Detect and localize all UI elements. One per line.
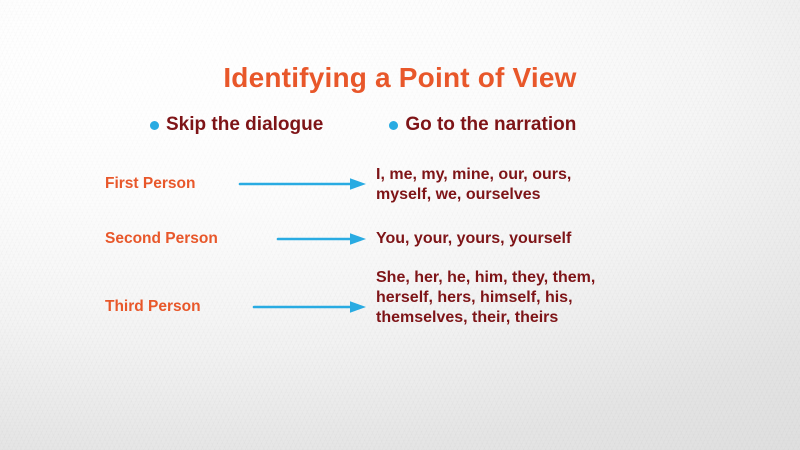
bullet-item-label: Go to the narration bbox=[405, 114, 576, 136]
bullet-dot-icon bbox=[389, 121, 398, 130]
row-words-line: myself, we, ourselves bbox=[376, 185, 706, 205]
bullet-item-label: Skip the dialogue bbox=[166, 114, 323, 136]
row-label-third-person: Third Person bbox=[105, 298, 245, 316]
row-words-line: She, her, he, him, they, them, bbox=[376, 268, 706, 288]
arrow-right-icon bbox=[278, 232, 370, 246]
row-words-third-person: She, her, he, him, they, them, herself, … bbox=[376, 268, 706, 328]
arrow-right-icon bbox=[254, 300, 370, 314]
bullet-dot-icon bbox=[150, 121, 159, 130]
slide-canvas: Identifying a Point of View Skip the dia… bbox=[0, 0, 800, 450]
row-words-line: I, me, my, mine, our, ours, bbox=[376, 165, 706, 185]
row-words-first-person: I, me, my, mine, our, ours, myself, we, … bbox=[376, 165, 706, 205]
bullet-item-go-to-the-narration: Go to the narration bbox=[389, 114, 576, 136]
row-words-line: themselves, their, theirs bbox=[376, 308, 706, 328]
page-title: Identifying a Point of View bbox=[0, 62, 800, 94]
row-words-second-person: You, your, yours, yourself bbox=[376, 229, 706, 249]
bullet-list: Skip the dialogue Go to the narration bbox=[150, 114, 670, 136]
row-label-second-person: Second Person bbox=[105, 230, 270, 248]
row-words-line: You, your, yours, yourself bbox=[376, 229, 706, 249]
row-words-line: herself, hers, himself, his, bbox=[376, 288, 706, 308]
bullet-item-skip-the-dialogue: Skip the dialogue bbox=[150, 114, 323, 136]
arrow-right-icon bbox=[240, 177, 370, 191]
row-label-first-person: First Person bbox=[105, 175, 235, 193]
